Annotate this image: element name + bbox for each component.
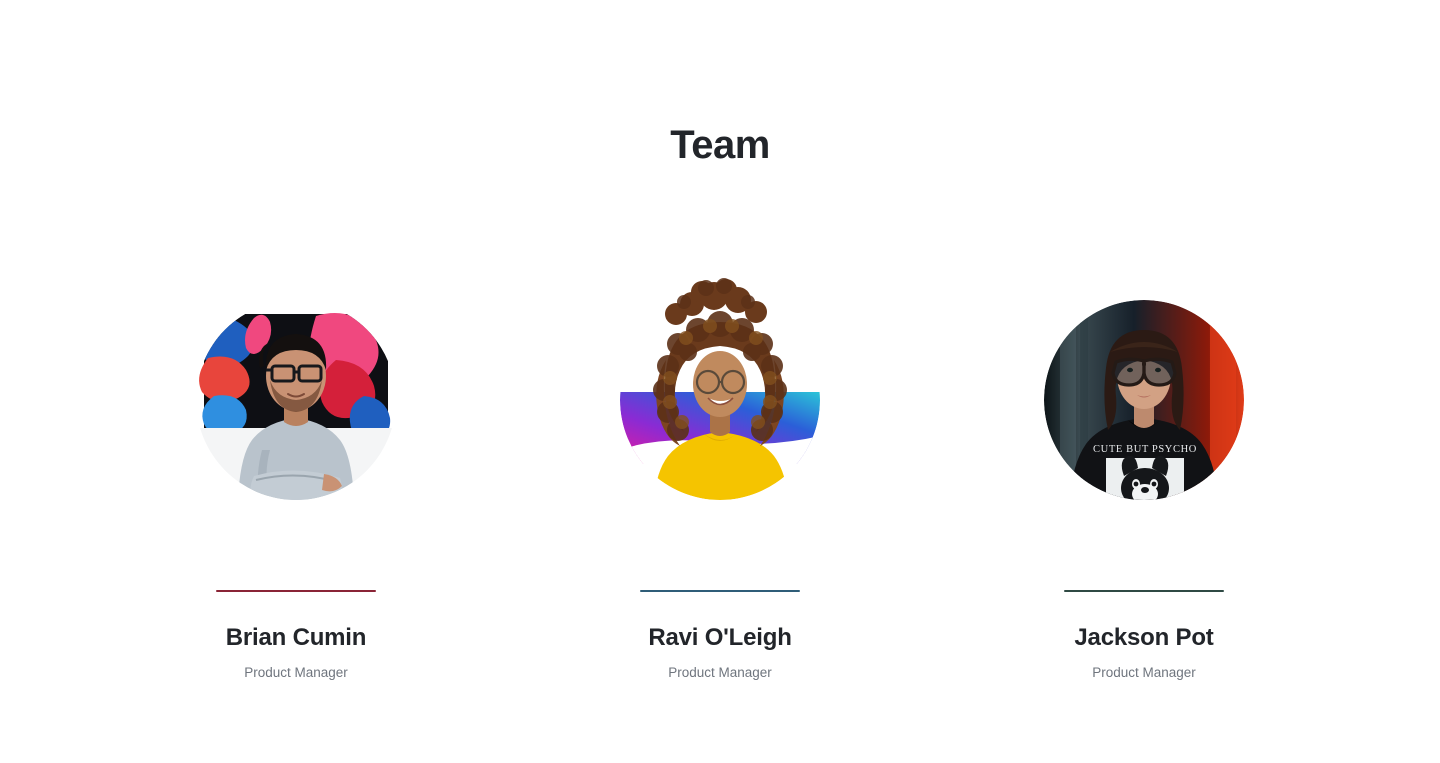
member-divider bbox=[216, 590, 376, 592]
member-name: Brian Cumin bbox=[226, 624, 366, 653]
page-title: Team bbox=[0, 122, 1440, 168]
team-members-row: Brian Cumin Product Manager bbox=[0, 258, 1440, 681]
member-role: Product Manager bbox=[1092, 665, 1196, 681]
ravi-oleigh-avatar-background bbox=[620, 300, 820, 500]
member-name: Ravi O'Leigh bbox=[648, 624, 791, 653]
team-page: Team bbox=[0, 0, 1440, 763]
avatar-disc bbox=[196, 300, 396, 500]
member-divider bbox=[1064, 590, 1224, 592]
team-member-card[interactable]: Ravi O'Leigh Product Manager bbox=[508, 258, 932, 681]
shirt-text: CUTE BUT PSYCHO bbox=[1093, 444, 1197, 455]
avatar[interactable] bbox=[196, 300, 396, 500]
avatar-disc: CUTE BUT PSYCHO bbox=[1044, 300, 1244, 500]
team-member-card[interactable]: CUTE BUT PSYCHO bbox=[932, 258, 1356, 681]
member-divider bbox=[640, 590, 800, 592]
member-role: Product Manager bbox=[668, 665, 772, 681]
avatar[interactable]: CUTE BUT PSYCHO bbox=[1044, 300, 1244, 500]
brian-cumin-avatar-background bbox=[196, 300, 396, 500]
member-name: Jackson Pot bbox=[1074, 624, 1213, 653]
member-role: Product Manager bbox=[244, 665, 348, 681]
avatar-disc bbox=[620, 300, 820, 500]
team-member-card[interactable]: Brian Cumin Product Manager bbox=[84, 258, 508, 681]
avatar[interactable] bbox=[620, 300, 820, 500]
jackson-pot-avatar-background: CUTE BUT PSYCHO bbox=[1044, 300, 1244, 500]
